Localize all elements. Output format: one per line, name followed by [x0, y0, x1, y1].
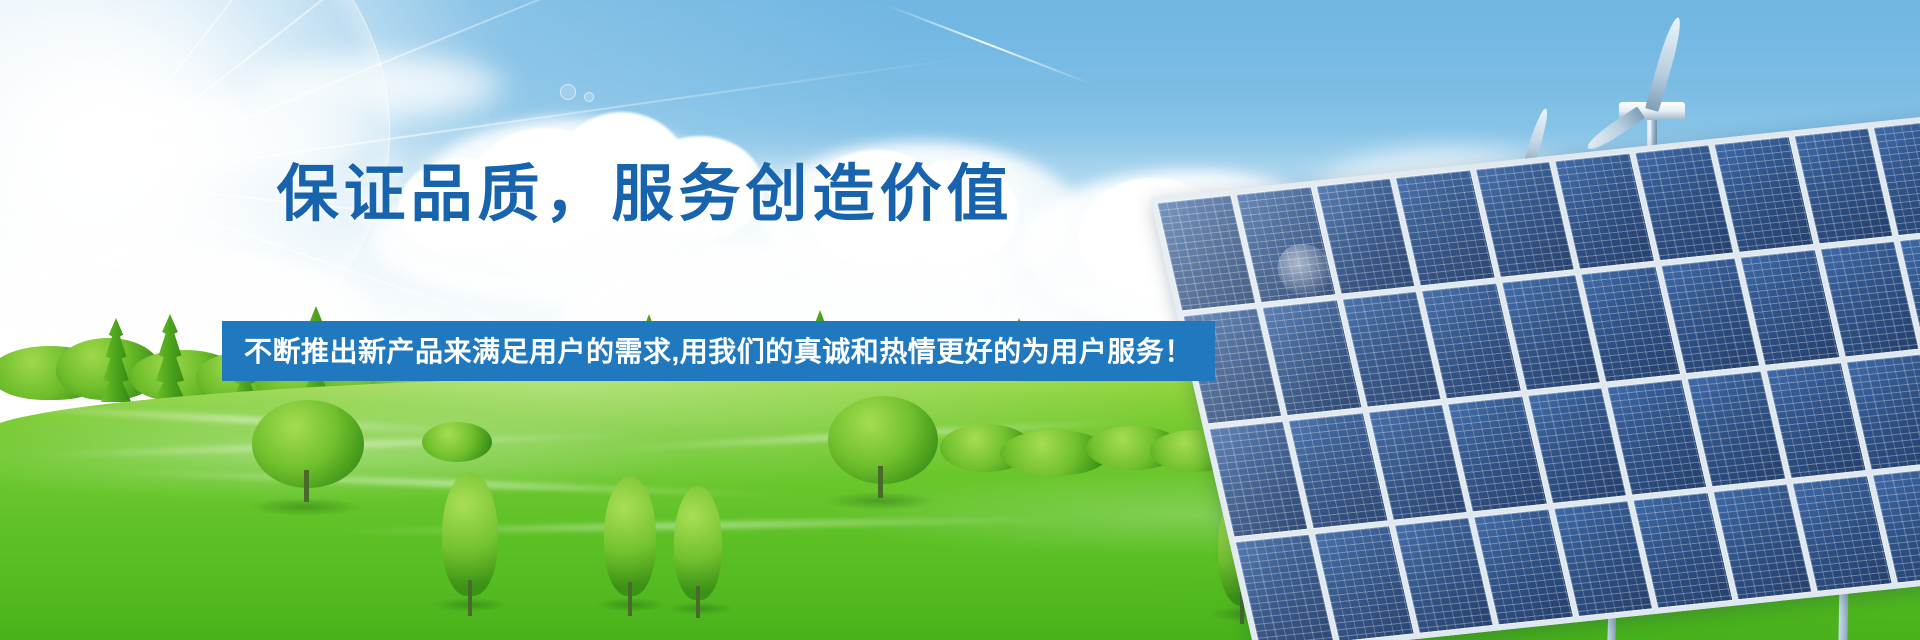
sapling-tree — [442, 472, 498, 596]
lens-flare-dot — [560, 84, 576, 100]
tree-trunk — [696, 586, 700, 618]
tree-trunk — [628, 582, 632, 616]
small-shrub — [422, 422, 492, 462]
solar-panel-array — [1180, 180, 1920, 640]
tree-trunk — [304, 470, 309, 502]
lens-flare-dot — [584, 92, 594, 102]
tree-trunk — [878, 466, 883, 498]
hero-banner: 保证品质，服务创造价值 不断推出新产品来满足用户的需求,用我们的真诚和热情更好的… — [0, 0, 1920, 640]
page-title: 保证品质，服务创造价值 — [0, 162, 1290, 229]
cloud-wisp — [250, 56, 510, 116]
sapling-tree — [674, 486, 722, 600]
tree-trunk — [468, 580, 472, 616]
subtitle-banner: 不断推出新产品来满足用户的需求,用我们的真诚和热情更好的为用户服务！ — [222, 321, 1215, 381]
foreground-tree — [828, 396, 938, 484]
tree-shadow — [668, 602, 734, 615]
sapling-tree — [604, 476, 656, 596]
